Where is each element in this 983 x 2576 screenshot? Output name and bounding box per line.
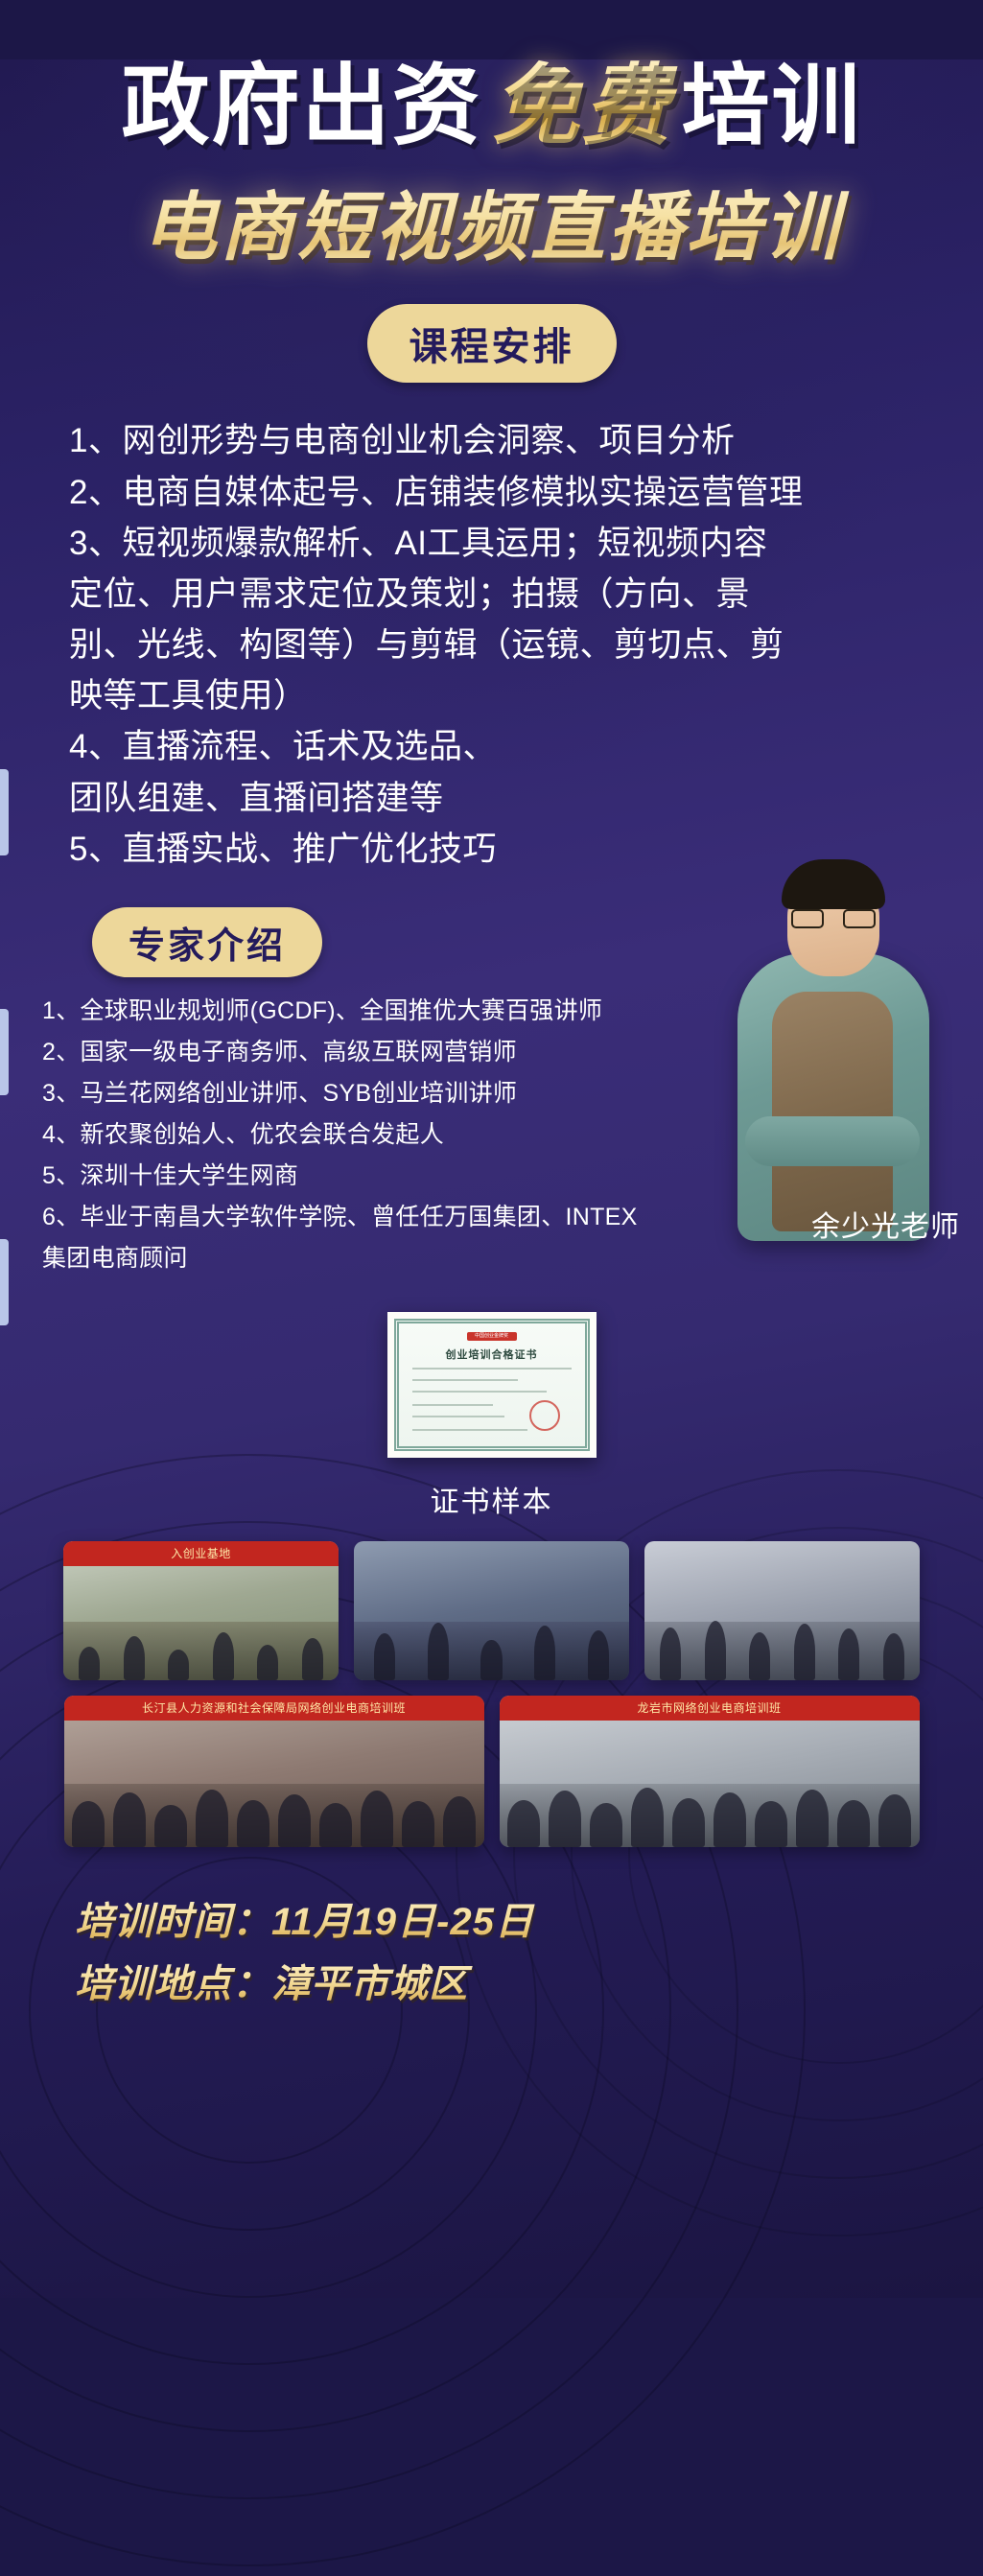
training-place-label: 培训地点： xyxy=(75,1963,271,2005)
page-title: 政府出资免费培训 xyxy=(0,59,983,154)
certificate-section: 中国创业金牌奖 创业培训合格证书 证书样本 xyxy=(0,1312,983,1520)
teacher-name: 余少光老师 xyxy=(811,1203,960,1245)
teacher-arms xyxy=(745,1116,920,1166)
credential-item: 4、新农聚创始人、优农会联合发起人 xyxy=(42,1114,656,1156)
photo-group-2: 龙岩市网络创业电商培训班 xyxy=(500,1696,920,1847)
footer-info: 培训时间：11月19日-25日 培训地点：漳平市城区 xyxy=(75,1891,983,2016)
course-item: 定位、用户需求定位及策划；拍摄（方向、景 xyxy=(69,569,894,620)
glasses-icon xyxy=(791,909,876,928)
training-place-value: 漳平市城区 xyxy=(271,1963,468,2005)
expert-intro-badge: 专家介绍 xyxy=(92,907,322,977)
training-place-line: 培训地点：漳平市城区 xyxy=(75,1954,983,2016)
photo-banner: 入创业基地 xyxy=(63,1541,339,1566)
photo-banner: 龙岩市网络创业电商培训班 xyxy=(500,1696,920,1721)
teacher-vest xyxy=(772,992,893,1231)
training-time-line: 培训时间：11月19日-25日 xyxy=(75,1891,983,1954)
teacher-photo xyxy=(716,838,947,1251)
certificate-image: 中国创业金牌奖 创业培训合格证书 xyxy=(387,1312,597,1458)
credential-item: 2、国家一级电子商务师、高级互联网营销师 xyxy=(42,1032,656,1073)
course-item: 团队组建、直播间搭建等 xyxy=(69,773,894,824)
training-time-label: 培训时间： xyxy=(75,1901,271,1943)
photo-classroom-2 xyxy=(354,1541,629,1680)
credential-item: 6、毕业于南昌大学软件学院、曾任任万国集团、INTEX集团电商顾问 xyxy=(42,1197,656,1279)
headline-highlight-free: 免费 xyxy=(481,59,681,154)
training-time-value: 11月19日-25日 xyxy=(271,1901,534,1943)
course-item: 4、直播流程、话术及选品、 xyxy=(69,721,894,772)
course-item: 1、网创形势与电商创业机会洞察、项目分析 xyxy=(69,415,894,466)
certificate-caption: 证书样本 xyxy=(0,1478,983,1520)
teacher-hair xyxy=(782,859,885,909)
course-schedule-badge: 课程安排 xyxy=(367,304,617,383)
photo-classroom-1: 入创业基地 xyxy=(63,1541,339,1680)
page-subtitle: 电商短视频直播培训 xyxy=(0,168,983,275)
credential-item: 5、深圳十佳大学生网商 xyxy=(42,1156,656,1197)
course-item: 2、电商自媒体起号、店铺装修模拟实操运营管理 xyxy=(69,467,894,518)
credential-item: 3、马兰花网络创业讲师、SYB创业培训讲师 xyxy=(42,1073,656,1114)
certificate-badge: 中国创业金牌奖 xyxy=(467,1332,517,1341)
certificate-title: 创业培训合格证书 xyxy=(399,1347,585,1362)
course-item: 3、短视频爆款解析、AI工具运用；短视频内容 xyxy=(69,518,894,569)
certificate-stamp xyxy=(529,1400,560,1431)
course-item: 别、光线、构图等）与剪辑（运镜、剪切点、剪 xyxy=(69,620,894,670)
photo-classroom-3 xyxy=(644,1541,920,1680)
course-item: 映等工具使用） xyxy=(69,670,894,721)
expert-credentials-list: 1、全球职业规划师(GCDF)、全国推优大赛百强讲师 2、国家一级电子商务师、高… xyxy=(42,991,656,1279)
credential-item: 1、全球职业规划师(GCDF)、全国推优大赛百强讲师 xyxy=(42,991,656,1032)
headline-part-1: 政府出资 xyxy=(121,58,481,155)
photo-gallery: 入创业基地 长汀县人力资源和社会保障局网络创业电商培训班 龙岩市网络创业电商培训… xyxy=(62,1541,921,1847)
course-list: 1、网创形势与电商创业机会洞察、项目分析 2、电商自媒体起号、店铺装修模拟实操运… xyxy=(69,415,894,875)
photo-banner: 长汀县人力资源和社会保障局网络创业电商培训班 xyxy=(64,1696,484,1721)
photo-group-1: 长汀县人力资源和社会保障局网络创业电商培训班 xyxy=(64,1696,484,1847)
headline-part-2: 培训 xyxy=(682,58,862,155)
